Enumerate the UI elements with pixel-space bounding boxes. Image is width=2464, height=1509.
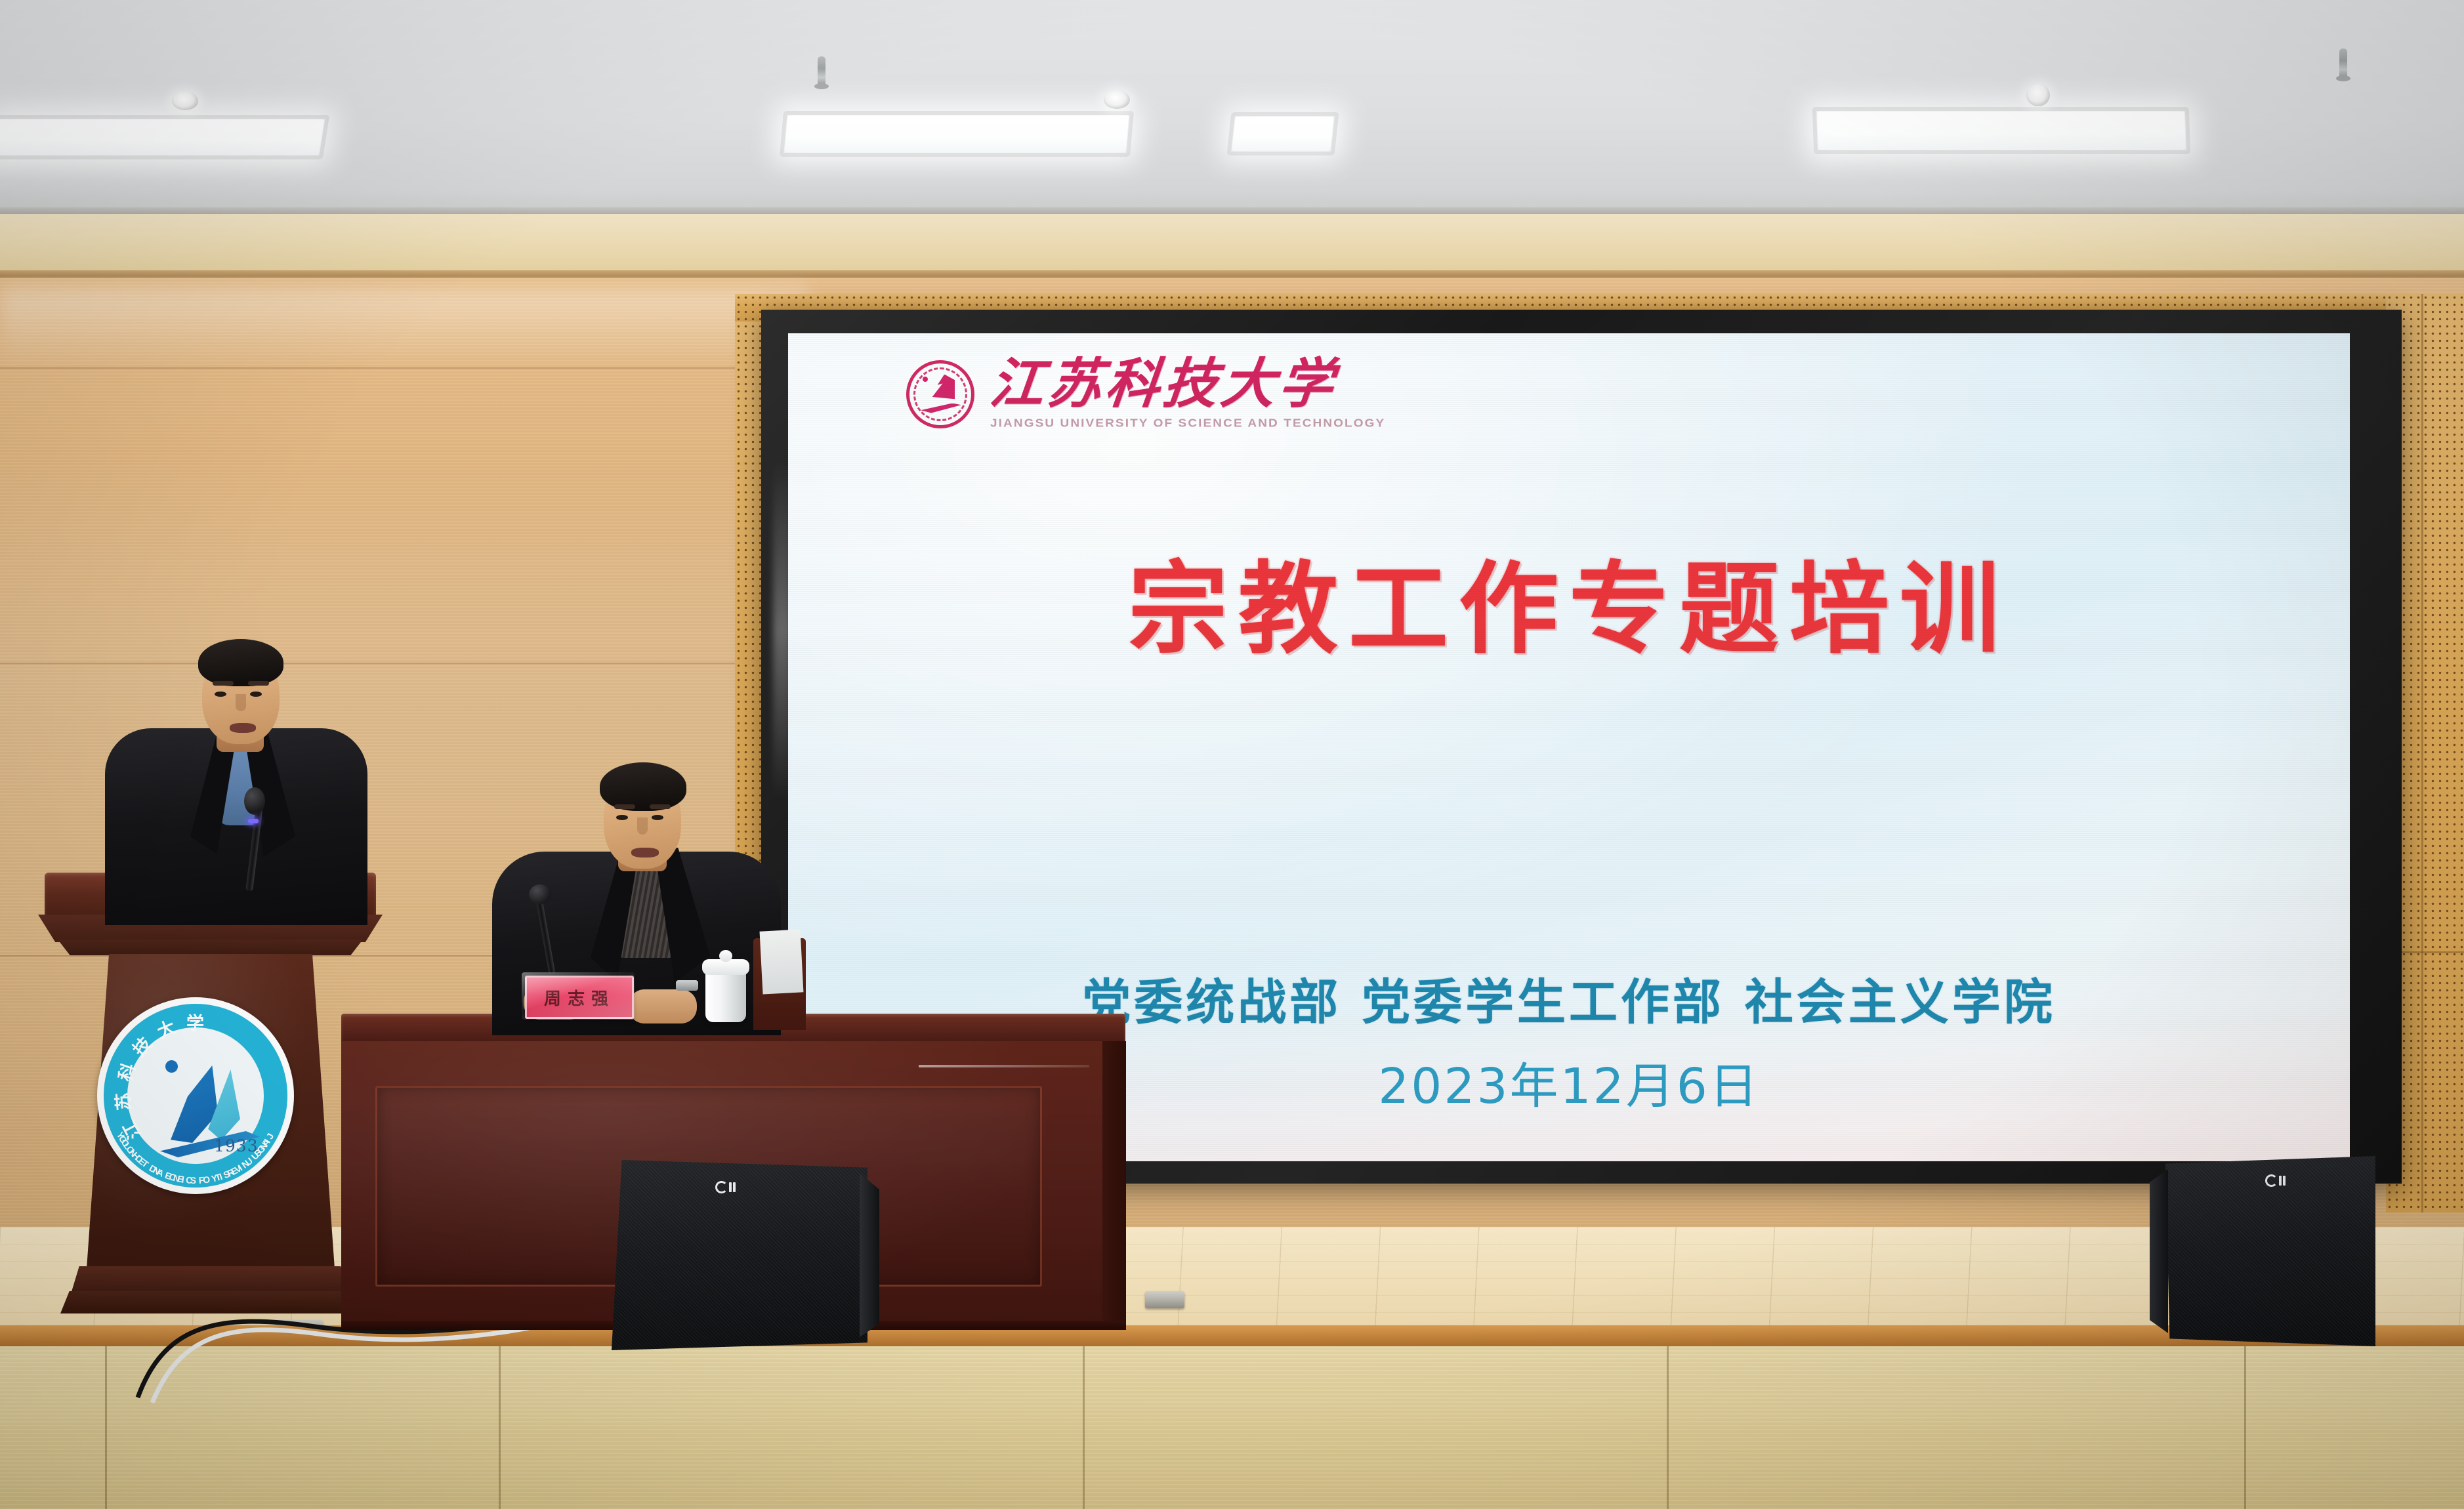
name-placard: 周志强 <box>525 976 634 1019</box>
stage-monitor-speaker-left <box>612 1160 867 1350</box>
desk-right-side <box>1102 1041 1126 1323</box>
desk-top-slot <box>919 1065 1089 1067</box>
slide-logo-mark-icon <box>906 360 974 428</box>
acoustic-panel-seam-2 <box>2421 294 2423 1212</box>
slide-title: 宗教工作专题培训 <box>788 556 2350 662</box>
stage-fascia-divider-1 <box>105 1346 107 1509</box>
floor-socket-plate <box>1145 1291 1184 1308</box>
ceiling-panel-light-4 <box>1232 117 1333 151</box>
official-nose <box>637 817 648 835</box>
slide-logo-chinese-name: 江苏科技大学 <box>988 357 1389 411</box>
official-mouth <box>631 848 659 858</box>
wall-light-reflection <box>0 289 807 367</box>
podium-lip-lower <box>58 940 363 955</box>
speaker-brand-logo-right-icon <box>2265 1174 2286 1187</box>
speaker-brand-logo-left-icon <box>715 1181 736 1193</box>
ceiling-downlight-1 <box>172 92 198 110</box>
podium-microphone-led <box>248 819 259 823</box>
speaker-hair <box>198 639 283 686</box>
speaker-podium: 1933 江苏科技大学 JIANGSU UNIVERSITY OF SCIENC… <box>26 873 394 1345</box>
official-hair <box>600 762 686 811</box>
ceiling-panel-light-3 <box>1817 112 2186 150</box>
stage-monitor-speaker-left-side <box>860 1173 879 1337</box>
podium-microphone-head <box>244 787 265 815</box>
speaker-eye-right <box>250 692 262 697</box>
upper-wall-band <box>0 214 2464 274</box>
speaker-nose <box>236 694 246 711</box>
stage-fascia-divider-5 <box>2244 1346 2246 1509</box>
speaker-eye-left <box>215 692 226 697</box>
teacup <box>705 971 746 1022</box>
slide-university-logo: 江苏科技大学 JIANGSU UNIVERSITY OF SCIENCE AND… <box>906 357 1385 431</box>
podium-base <box>71 1266 349 1294</box>
slide-logo-english-name: JIANGSU UNIVERSITY OF SCIENCE AND TECHNO… <box>990 417 1385 430</box>
official-brow-left <box>614 804 635 809</box>
ceiling-sprinkler-2 <box>2339 49 2347 79</box>
stage-fascia-divider-3 <box>1083 1346 1085 1509</box>
standing-speaker <box>98 630 381 912</box>
ceiling-panel-light-2 <box>785 115 1129 152</box>
teacup-knob <box>719 950 732 962</box>
official-brow-right <box>650 804 671 809</box>
table-microphone-head <box>529 884 551 904</box>
podium-base-plinth <box>60 1291 360 1313</box>
speaker-brow-left <box>213 681 234 686</box>
emblem-english-ring-text: JIANGSU UNIVERSITY OF SCIENCE AND TECHNO… <box>97 997 294 1194</box>
ceiling-downlight-3 <box>2026 84 2050 106</box>
official-eye-left <box>616 815 628 820</box>
speaker-mouth <box>230 723 256 733</box>
ceiling-sprinkler-1 <box>818 56 825 87</box>
ceiling-panel-light-1 <box>0 119 324 155</box>
ceiling-downlight-2 <box>1104 91 1130 109</box>
official-eye-right <box>652 815 663 820</box>
document-on-table <box>760 929 804 994</box>
stage-speaker-right-side <box>2150 1169 2168 1333</box>
stage-fascia-divider-4 <box>1667 1346 1669 1509</box>
official-hand-right <box>629 989 697 1023</box>
name-placard-text: 周志强 <box>544 985 615 1010</box>
speaker-brow-right <box>248 681 269 686</box>
official-wristwatch <box>676 980 698 991</box>
podium-university-emblem: 1933 江苏科技大学 JIANGSU UNIVERSITY OF SCIENC… <box>97 997 294 1194</box>
conference-hall-photo: 江苏科技大学 JIANGSU UNIVERSITY OF SCIENCE AND… <box>0 0 2464 1509</box>
